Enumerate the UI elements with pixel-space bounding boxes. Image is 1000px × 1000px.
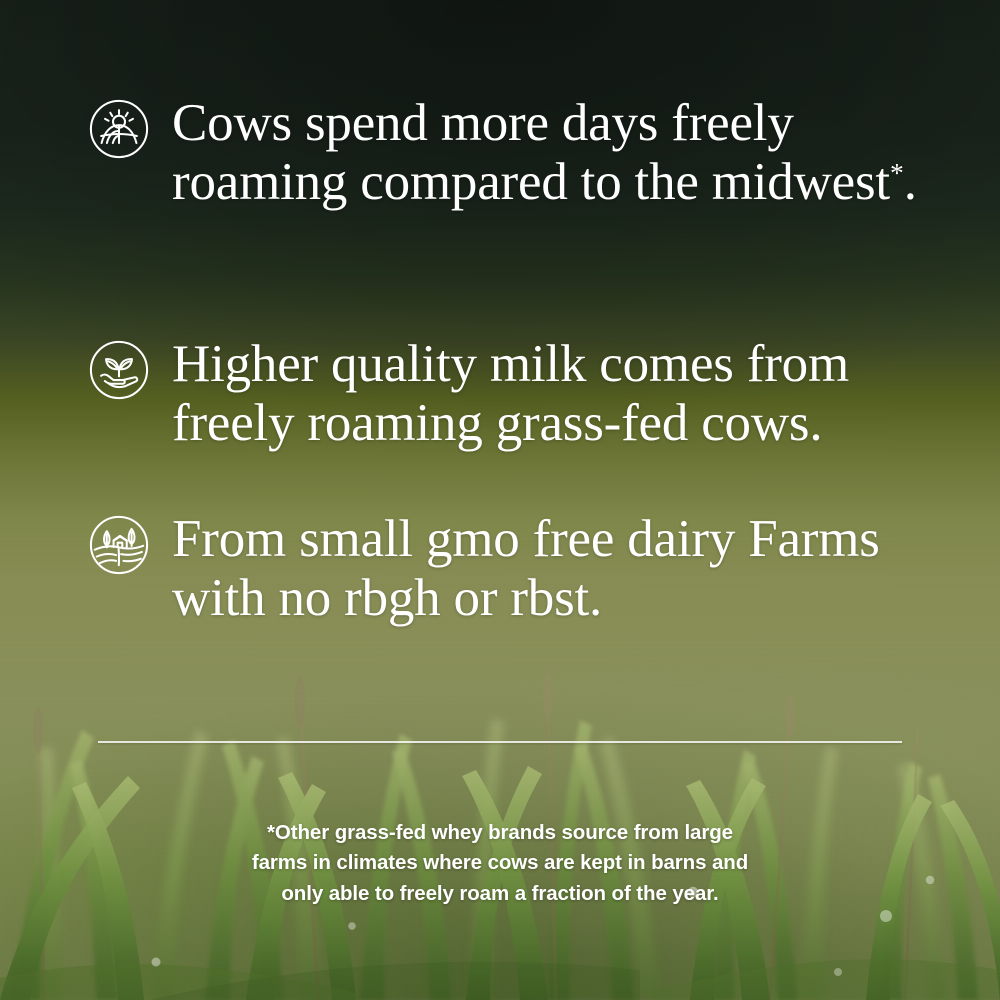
feature-text: From small gmo free dairy Farms with no …	[172, 508, 918, 629]
horizontal-divider	[98, 741, 902, 743]
feature-text-main: Cows spend more days freely roaming comp…	[172, 94, 890, 211]
feature-text-trailing: .	[904, 153, 917, 211]
footnote-line: only able to freely roam a fraction of t…	[150, 879, 850, 909]
feature-text-main: From small gmo free dairy Farms with no …	[172, 510, 880, 627]
content-layer: Cows spend more days freely roaming comp…	[0, 0, 1000, 1000]
feature-row: From small gmo free dairy Farms with no …	[88, 508, 918, 629]
hand-holding-plant-icon	[88, 339, 150, 401]
farm-barn-icon	[88, 514, 150, 576]
promo-graphic: Cows spend more days freely roaming comp…	[0, 0, 1000, 1000]
sun-over-field-icon	[88, 98, 150, 160]
footnote-line: farms in climates where cows are kept in…	[150, 848, 850, 878]
footnote-marker: *	[890, 157, 904, 188]
feature-text: Cows spend more days freely roaming comp…	[172, 92, 918, 213]
feature-text-main: Higher quality milk comes from freely ro…	[172, 335, 849, 452]
feature-row: Cows spend more days freely roaming comp…	[88, 92, 918, 213]
footnote-disclaimer: *Other grass-fed whey brands source from…	[150, 818, 850, 909]
footnote-line: *Other grass-fed whey brands source from…	[150, 818, 850, 848]
feature-row: Higher quality milk comes from freely ro…	[88, 333, 968, 454]
feature-text: Higher quality milk comes from freely ro…	[172, 333, 968, 454]
